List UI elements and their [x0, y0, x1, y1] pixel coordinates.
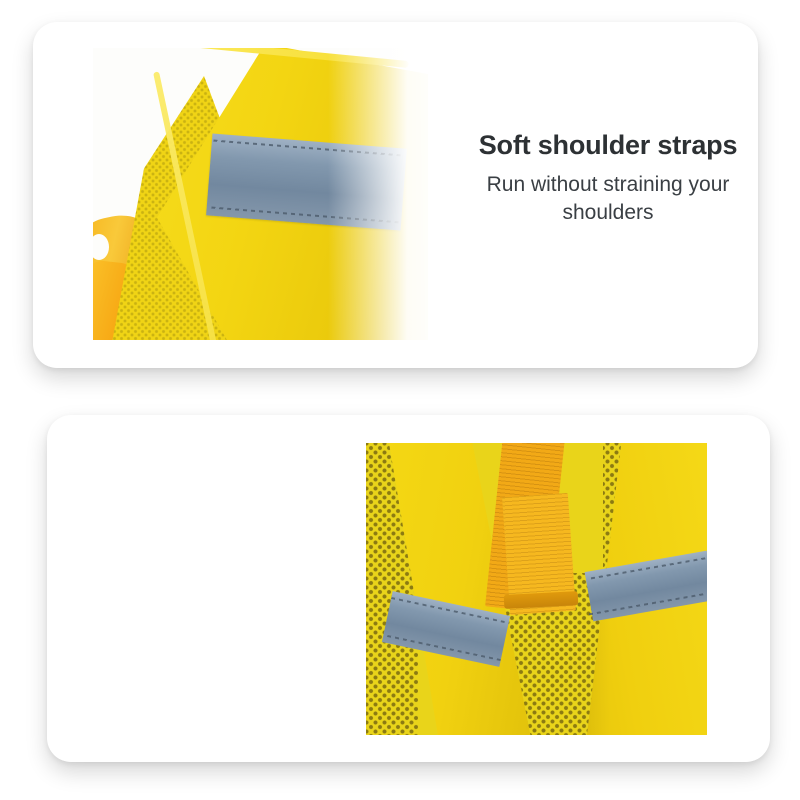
- product-photo-shoulder-strap: [93, 48, 428, 340]
- product-feature-page: Soft shoulder straps Run without straini…: [0, 0, 800, 800]
- feature-text-soft-shoulder-straps: Soft shoulder straps Run without straini…: [453, 130, 758, 227]
- feature-card-reflective-strips: Reflective strips For a safer ride home …: [47, 415, 770, 762]
- feature-headline: Soft shoulder straps: [453, 130, 758, 162]
- feature-card-soft-shoulder-straps: Soft shoulder straps Run without straini…: [33, 22, 758, 368]
- feature-subline: Run without straining your shoulders: [453, 171, 758, 227]
- product-photo-backpack-back: [366, 443, 707, 735]
